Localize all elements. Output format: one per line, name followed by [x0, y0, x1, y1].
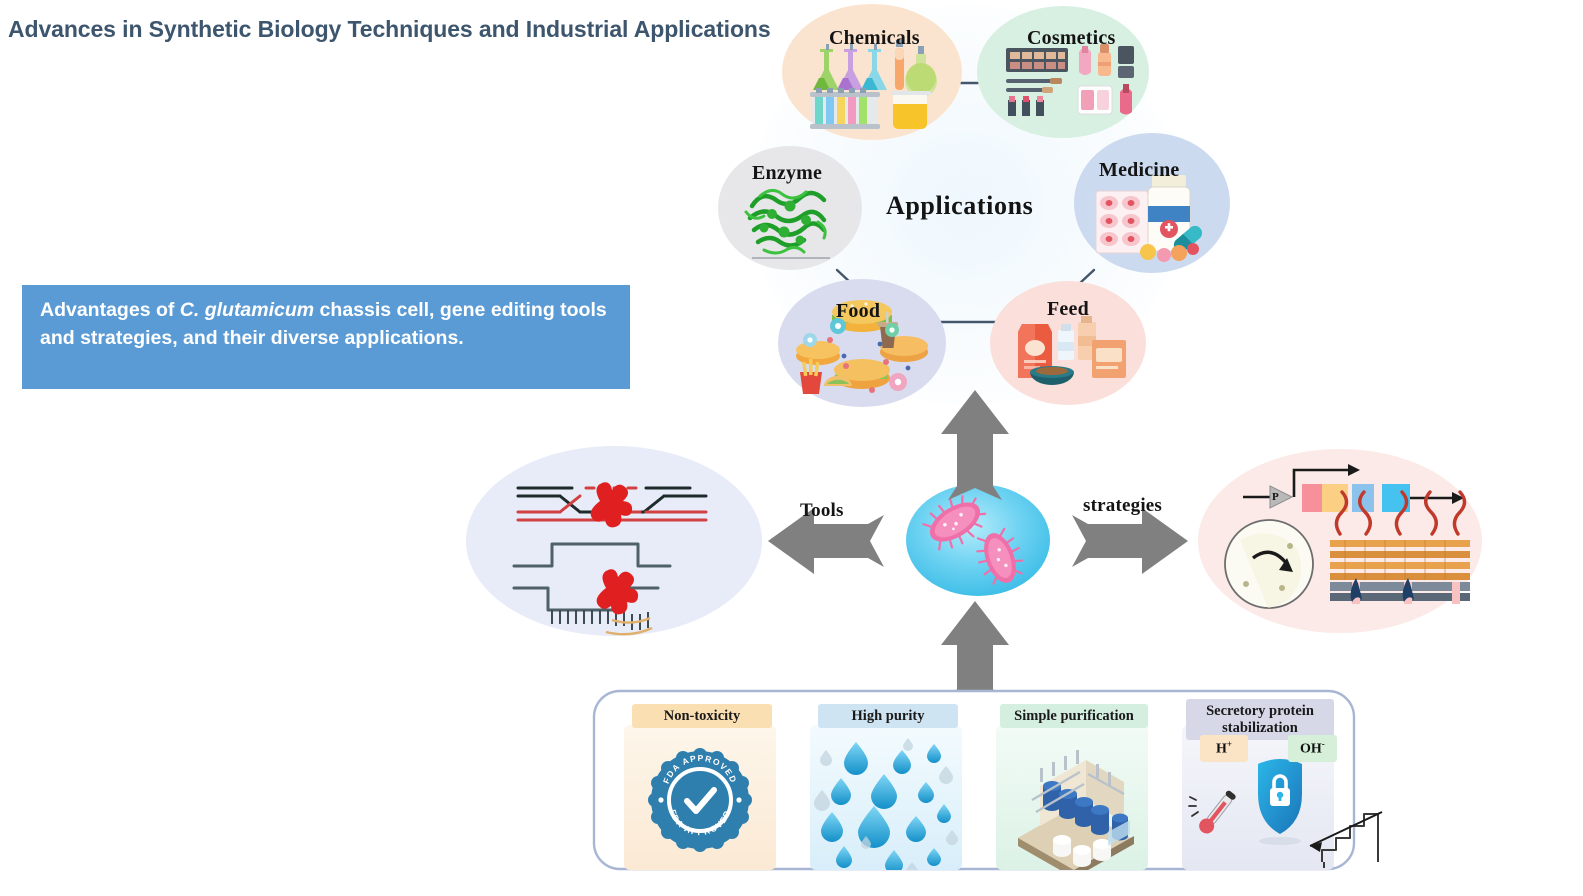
chassis-cell-node[interactable] [906, 484, 1050, 596]
synthetic-biology-figure: P [0, 0, 1583, 896]
expression-strategies-panel[interactable]: P [1198, 449, 1482, 633]
ion-label-oh-minus: OH- [1288, 735, 1337, 762]
ion-label-h-plus: H+ [1200, 735, 1248, 762]
arrow-up-from-advantages [941, 601, 1009, 703]
applications-center-label: Applications [886, 191, 1033, 221]
application-label-food: Food [836, 300, 880, 323]
gene-editing-tools-panel[interactable] [466, 446, 762, 636]
fda-approved-badge-icon: FDA APPROVED FDA APPROVED [648, 748, 752, 852]
application-label-enzyme: Enzyme [752, 162, 822, 185]
application-node-medicine[interactable] [1074, 133, 1230, 273]
plasmid-circle-icon [1225, 520, 1313, 608]
flow-label-tools: Tools [800, 500, 844, 522]
application-label-cosmetics: Cosmetics [1027, 27, 1115, 50]
application-label-chemicals: Chemicals [829, 27, 920, 50]
arrow-right-to-strategies [1072, 508, 1188, 574]
figure-graphics: P [0, 0, 1583, 896]
application-node-cosmetics[interactable] [977, 6, 1149, 138]
application-node-chemicals[interactable] [782, 4, 962, 140]
application-label-feed: Feed [1047, 298, 1089, 321]
application-node-food[interactable] [778, 279, 946, 407]
svg-text:P: P [1272, 491, 1279, 503]
advantage-chip-non-toxicity: Non-toxicity [632, 704, 772, 728]
flow-label-strategies: strategies [1083, 495, 1162, 517]
advantage-chip-high-purity: High purity [818, 704, 958, 728]
application-label-medicine: Medicine [1099, 159, 1179, 182]
advantage-chip-simple-purification: Simple purification [1000, 704, 1148, 728]
arrow-up-to-applications [941, 390, 1009, 500]
